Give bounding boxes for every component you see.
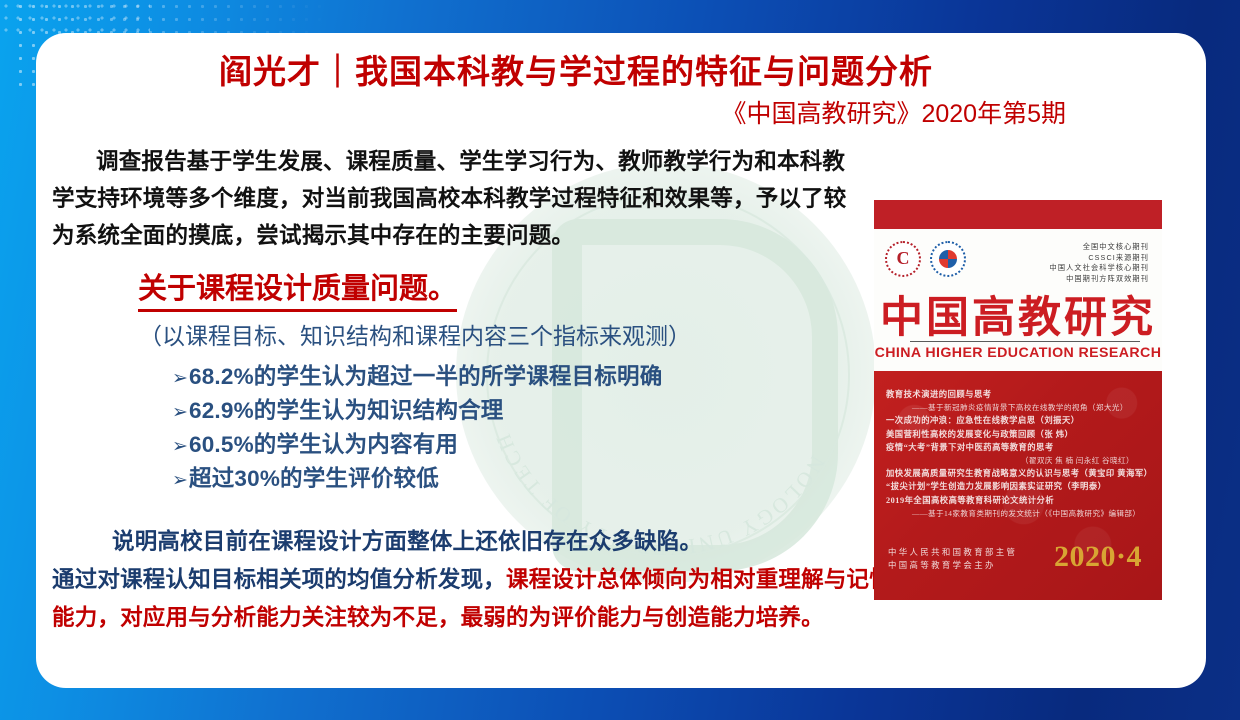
magazine-publisher-line-2: 中国高等教育学会主办 <box>888 559 1017 572</box>
slide-root: NOLOGY UNIVERSITY OF TECH 阎光才｜我国本科教与学过程的… <box>0 0 1240 720</box>
magazine-logos <box>885 241 966 277</box>
closing-line-2-blue: 通过对课程认知目标相关项的均值分析发现， <box>52 567 506 592</box>
content-card: NOLOGY UNIVERSITY OF TECH 阎光才｜我国本科教与学过程的… <box>36 33 1206 688</box>
magazine-issue-number: 2020·4 <box>1054 540 1142 574</box>
magazine-publisher: 中华人民共和国教育部主管 中国高等教育学会主办 <box>888 546 1017 572</box>
magazine-contents-panel: 教育技术演进的回顾与思考 ——基于新冠肺炎疫情背景下高校在线教学的视角（郑大光）… <box>874 371 1162 600</box>
arrow-bullet-icon: ➢ <box>172 397 189 429</box>
list-item: ➢68.2%的学生认为超过一半的所学课程目标明确 <box>172 361 662 395</box>
list-item-label: 68.2%的学生认为超过一半的所学课程目标明确 <box>189 364 662 389</box>
journal-seal-logo-icon <box>930 241 966 277</box>
magazine-article-list: 教育技术演进的回顾与思考 ——基于新冠肺炎疫情背景下高校在线教学的视角（郑大光）… <box>886 388 1152 520</box>
magazine-badge: CSSCI来源期刊 <box>1050 253 1149 264</box>
magazine-article: 2019年全国高校高等教育科研论文统计分析 <box>886 494 1152 507</box>
closing-paragraph: 说明高校目前在课程设计方面整体上还依旧存在众多缺陷。通过对课程认知目标相关项的均… <box>52 523 912 637</box>
magazine-article-authors: （翟双庆 焦 楠 闫永红 谷晓红） <box>886 454 1152 467</box>
magazine-article: “拔尖计划”学生创造力发展影响因素实证研究（李明泰） <box>886 480 1152 493</box>
page-title: 阎光才｜我国本科教与学过程的特征与问题分析 <box>76 49 1076 95</box>
magazine-badge: 全国中文核心期刊 <box>1050 242 1149 253</box>
arrow-bullet-icon: ➢ <box>172 431 189 463</box>
list-item-label: 62.9%的学生认为知识结构合理 <box>189 398 504 423</box>
magazine-article: 一次成功的冲浪：应急性在线教学启思（刘振天） <box>886 414 1152 427</box>
magazine-badges: 全国中文核心期刊 CSSCI来源期刊 中国人文社会科学核心期刊 中国期刊方阵双效… <box>1050 242 1149 284</box>
magazine-article: 加快发展高质量研究生教育战略意义的认识与思考（黄宝印 黄海军） <box>886 467 1152 480</box>
list-item-label: 60.5%的学生认为内容有用 <box>189 432 458 457</box>
magazine-article: 教育技术演进的回顾与思考 <box>886 388 1152 401</box>
closing-line-1: 说明高校目前在课程设计方面整体上还依旧存在众多缺陷。 <box>52 523 912 561</box>
magazine-cover-image: 全国中文核心期刊 CSSCI来源期刊 中国人文社会科学核心期刊 中国期刊方阵双效… <box>874 200 1162 600</box>
magazine-badge: 中国人文社会科学核心期刊 <box>1050 263 1149 274</box>
magazine-publisher-line-1: 中华人民共和国教育部主管 <box>888 546 1017 559</box>
title-block: 阎光才｜我国本科教与学过程的特征与问题分析 《中国高教研究》2020年第5期 <box>76 49 1076 131</box>
section-heading: 关于课程设计质量问题。 <box>138 265 457 312</box>
list-item: ➢60.5%的学生认为内容有用 <box>172 429 662 463</box>
magazine-divider <box>910 341 1140 342</box>
magazine-article: 疫情“大考”背景下对中医药高等教育的思考 <box>886 441 1152 454</box>
list-item: ➢超过30%的学生评价较低 <box>172 463 662 497</box>
arrow-bullet-icon: ➢ <box>172 465 189 497</box>
intro-paragraph: 调查报告基于学生发展、课程质量、学生学习行为、教师教学行为和本科教学支持环境等多… <box>52 143 862 254</box>
cahe-seal-logo-icon <box>885 241 921 277</box>
magazine-top-bar <box>874 200 1162 229</box>
magazine-chinese-title: 中国高教研究 <box>874 283 1162 345</box>
statistics-bullet-list: ➢68.2%的学生认为超过一半的所学课程目标明确 ➢62.9%的学生认为知识结构… <box>172 361 662 497</box>
arrow-bullet-icon: ➢ <box>172 363 189 395</box>
magazine-article: 美国营利性高校的发展变化与政策回顾（张 炜） <box>886 428 1152 441</box>
section-note: （以课程目标、知识结构和课程内容三个指标来观测） <box>139 320 691 352</box>
magazine-masthead: 全国中文核心期刊 CSSCI来源期刊 中国人文社会科学核心期刊 中国期刊方阵双效… <box>874 229 1162 371</box>
list-item: ➢62.9%的学生认为知识结构合理 <box>172 395 662 429</box>
page-subtitle: 《中国高教研究》2020年第5期 <box>76 97 1076 131</box>
list-item-label: 超过30%的学生评价较低 <box>189 466 439 491</box>
magazine-english-title: CHINA HIGHER EDUCATION RESEARCH <box>874 345 1162 361</box>
magazine-article-sub: ——基于新冠肺炎疫情背景下高校在线教学的视角（郑大光） <box>886 401 1152 414</box>
magazine-article-sub: ——基于14家教育类期刊的发文统计（《中国高教研究》编辑部） <box>886 507 1152 520</box>
